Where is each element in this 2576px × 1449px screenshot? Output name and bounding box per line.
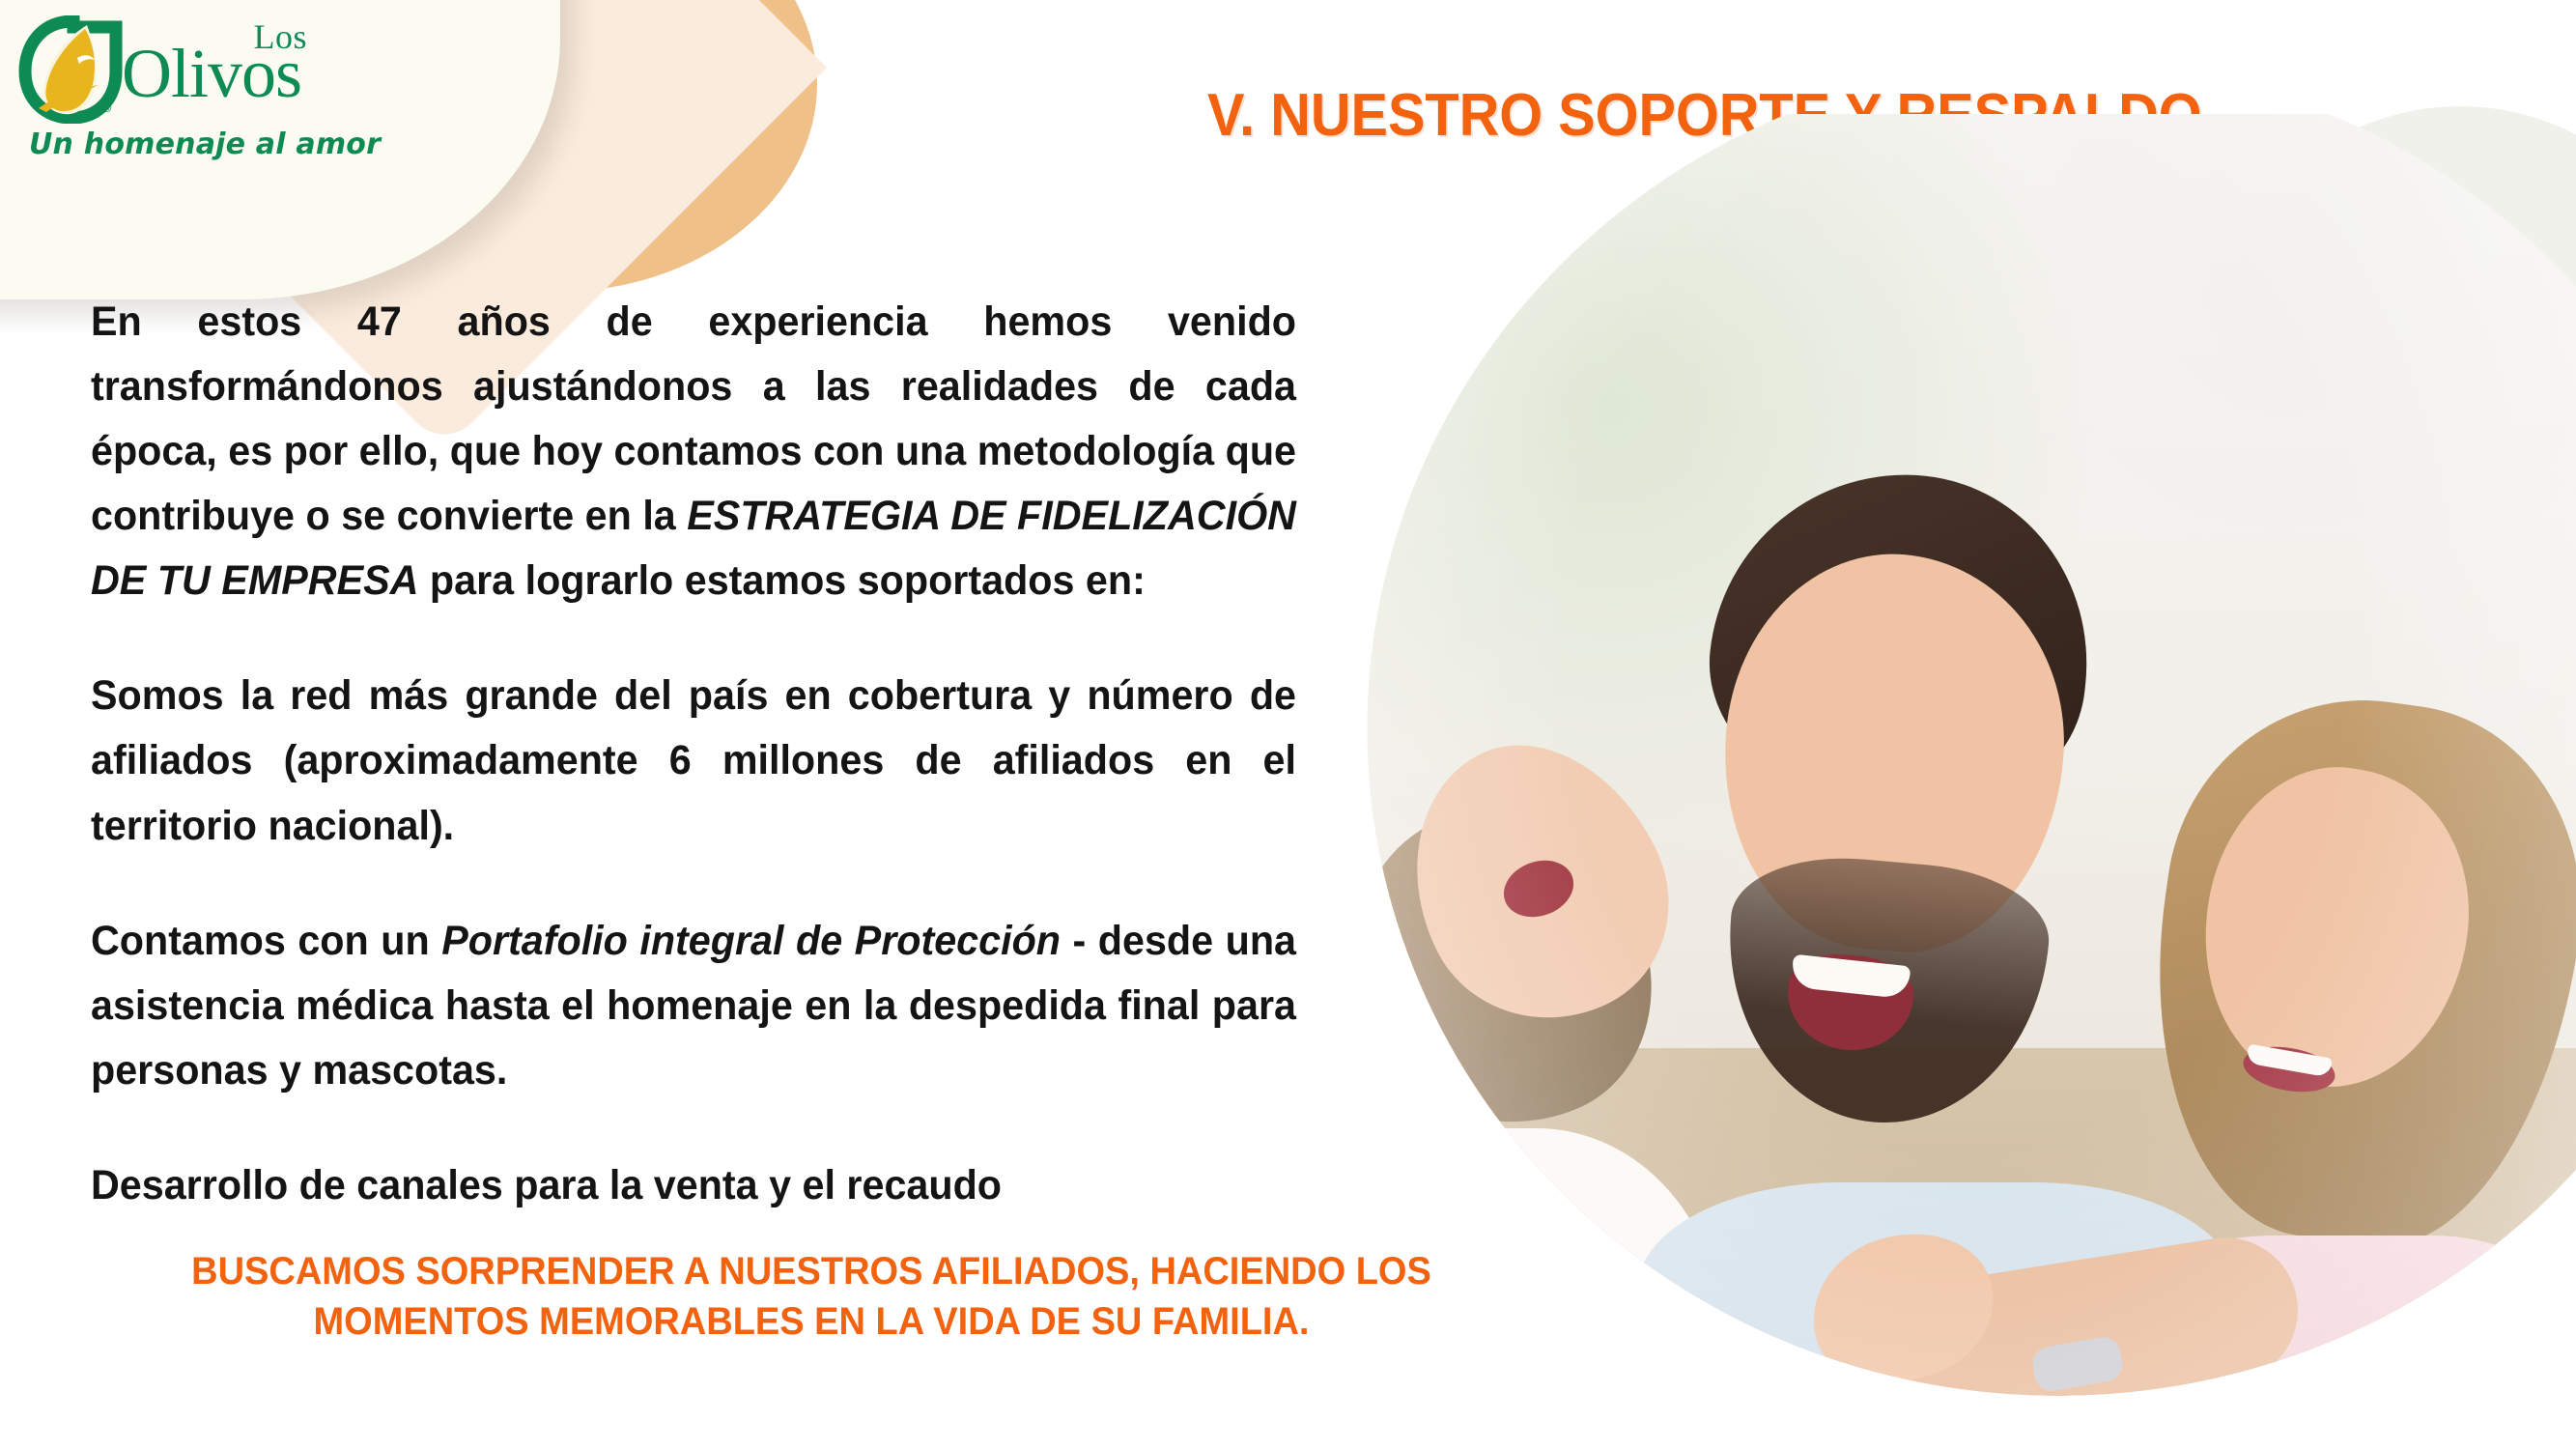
paragraph-1: En estos 47 años de experiencia hemos ve… bbox=[91, 290, 1296, 613]
tan-blob-shape-2 bbox=[415, 0, 705, 270]
paragraph-3: Contamos con un Portafolio integral de P… bbox=[91, 909, 1296, 1103]
photo-canvas bbox=[1343, 114, 2576, 1449]
callout-statement: BUSCAMOS SORPRENDER A NUESTROS AFILIADOS… bbox=[132, 1246, 1490, 1347]
brand-logo: ® Los Olivos Un homenaje al amor bbox=[17, 10, 307, 174]
family-laughing-photo bbox=[1343, 114, 2576, 1449]
logo-tagline: Un homenaje al amor bbox=[29, 128, 381, 161]
body-copy: En estos 47 años de experiencia hemos ve… bbox=[91, 290, 1346, 1218]
olive-leaf-dove-icon: ® bbox=[17, 15, 126, 124]
slide-canvas: ® Los Olivos Un homenaje al amor V. NUES… bbox=[0, 0, 2576, 1449]
logo-lockup: ® Los Olivos bbox=[17, 10, 307, 124]
run-text: Desarrollo de canales para la venta y el… bbox=[91, 1162, 1002, 1208]
svg-text:®: ® bbox=[100, 101, 113, 116]
run-text: para lograrlo estamos soportados en: bbox=[418, 557, 1145, 604]
logo-wordmark: Los Olivos bbox=[122, 14, 315, 120]
callout-line-2: MOMENTOS MEMORABLES EN LA VIDA DE SU FAM… bbox=[132, 1296, 1490, 1347]
callout-line-1: BUSCAMOS SORPRENDER A NUESTROS AFILIADOS… bbox=[132, 1246, 1490, 1296]
run-text: Somos la red más grande del país en cobe… bbox=[91, 672, 1296, 848]
paragraph-4: Desarrollo de canales para la venta y el… bbox=[91, 1153, 1296, 1218]
run-text: Contamos con un bbox=[91, 918, 441, 964]
paragraph-2: Somos la red más grande del país en cobe… bbox=[91, 664, 1296, 858]
photo-vignette bbox=[1343, 114, 2576, 1449]
run-emphasis: Portafolio integral de Protección bbox=[441, 918, 1061, 964]
logo-word-olivos: Olivos bbox=[122, 39, 301, 108]
